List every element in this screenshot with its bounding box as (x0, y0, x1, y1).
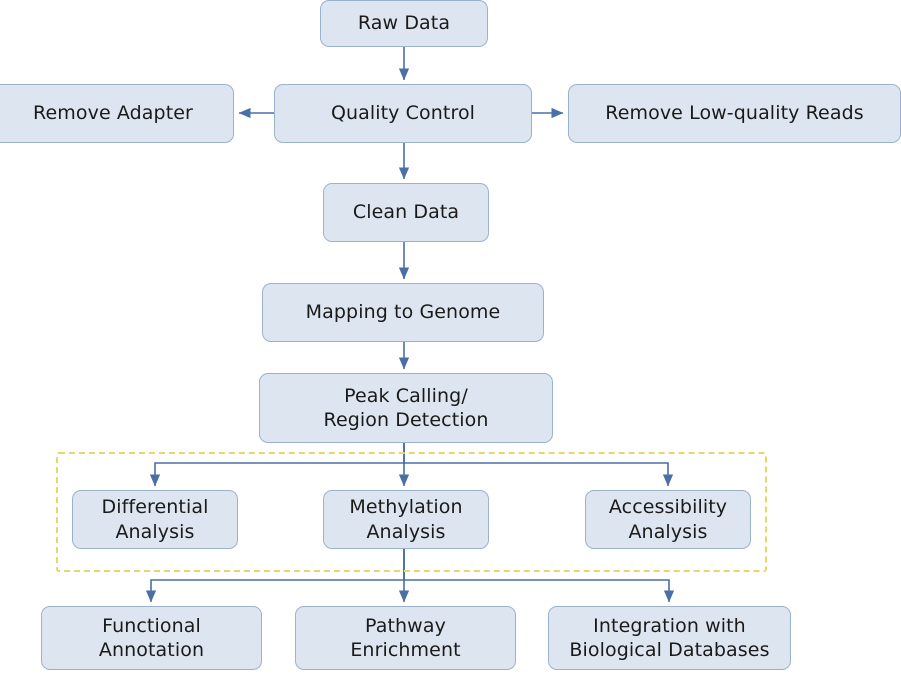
node-differential-analysis[interactable]: Differential Analysis (72, 490, 238, 549)
node-functional-annotation[interactable]: Functional Annotation (41, 606, 262, 670)
node-raw-data[interactable]: Raw Data (320, 0, 488, 47)
node-clean-data[interactable]: Clean Data (323, 183, 489, 242)
node-quality-control[interactable]: Quality Control (274, 84, 532, 143)
flowchart-canvas: Raw Data Quality Control Remove Adapter … (0, 0, 901, 680)
node-remove-adapter[interactable]: Remove Adapter (0, 84, 234, 143)
node-pathway-enrichment[interactable]: Pathway Enrichment (295, 606, 516, 670)
node-accessibility-analysis[interactable]: Accessibility Analysis (585, 490, 751, 549)
node-peak-calling-region-detection[interactable]: Peak Calling/ Region Detection (259, 373, 553, 443)
node-remove-low-quality-reads[interactable]: Remove Low-quality Reads (568, 84, 901, 143)
node-methylation-analysis[interactable]: Methylation Analysis (323, 490, 489, 549)
node-integration-with-biological-databases[interactable]: Integration with Biological Databases (548, 606, 791, 670)
node-mapping-to-genome[interactable]: Mapping to Genome (262, 283, 544, 342)
